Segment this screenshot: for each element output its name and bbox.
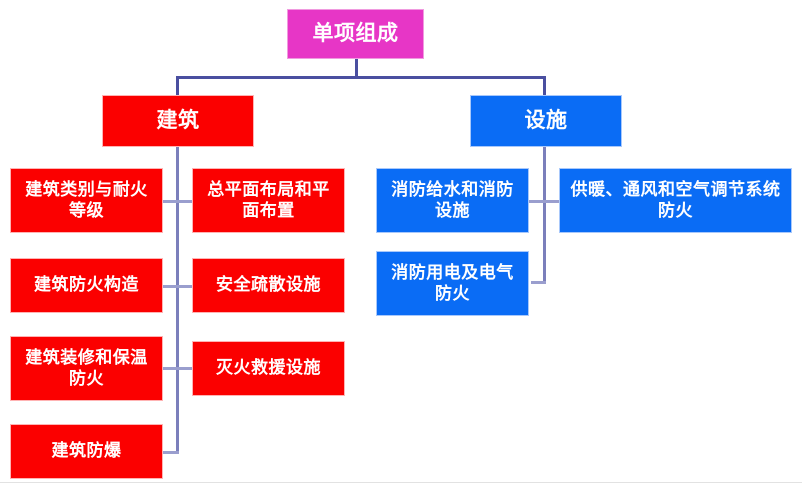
node-facility[interactable]: 设施	[470, 95, 622, 147]
node-facility-child-1-label: 消防给水和消防设施	[383, 180, 522, 221]
node-root-label: 单项组成	[294, 21, 417, 47]
connector-building-tick-1	[160, 200, 196, 203]
diagram-canvas: 单项组成 建筑 设施 建筑类别与耐火等级 建筑防火构造 建筑装修和保温防火 建筑…	[0, 0, 802, 484]
node-facility-child-2[interactable]: 供暖、通风和空气调节系统防火	[559, 168, 792, 233]
connector-facility-spine	[543, 147, 546, 284]
node-facility-child-1[interactable]: 消防给水和消防设施	[376, 168, 529, 233]
connector-building-elbow	[163, 451, 179, 454]
node-building-child-5-label: 建筑装修和保温防火	[17, 348, 156, 389]
connector-facility-elbow	[531, 281, 546, 284]
connector-building-tick-3	[160, 367, 196, 370]
node-facility-child-3-label: 消防用电及电气防火	[383, 263, 522, 304]
connector-facility-tick-1	[527, 200, 563, 203]
node-building-child-6-label: 灭火救援设施	[199, 358, 338, 379]
node-facility-child-3[interactable]: 消防用电及电气防火	[376, 251, 529, 316]
connector-building-spine	[176, 147, 179, 454]
node-building-child-3[interactable]: 建筑防火构造	[10, 258, 163, 313]
node-building-child-7[interactable]: 建筑防爆	[10, 424, 163, 479]
node-building-child-3-label: 建筑防火构造	[17, 275, 156, 296]
node-building-label: 建筑	[109, 108, 247, 134]
connector-root-to-facility	[543, 76, 546, 95]
node-facility-label: 设施	[477, 108, 615, 134]
node-building-child-6[interactable]: 灭火救援设施	[192, 341, 345, 396]
node-building-child-2-label: 总平面布局和平面布置	[199, 180, 338, 221]
node-building-child-1-label: 建筑类别与耐火等级	[17, 180, 156, 221]
node-building-child-1[interactable]: 建筑类别与耐火等级	[10, 168, 163, 233]
connector-root-to-building	[176, 76, 179, 95]
node-building-child-5[interactable]: 建筑装修和保温防火	[10, 336, 163, 401]
node-building[interactable]: 建筑	[102, 95, 254, 147]
node-building-child-2[interactable]: 总平面布局和平面布置	[192, 168, 345, 233]
connector-building-tick-2	[160, 285, 196, 288]
node-building-child-4[interactable]: 安全疏散设施	[192, 258, 345, 313]
connector-root-bar	[176, 76, 546, 79]
bottom-divider	[0, 482, 802, 483]
node-facility-child-2-label: 供暖、通风和空气调节系统防火	[566, 180, 785, 221]
node-building-child-4-label: 安全疏散设施	[199, 275, 338, 296]
node-root[interactable]: 单项组成	[287, 9, 424, 59]
node-building-child-7-label: 建筑防爆	[17, 441, 156, 462]
